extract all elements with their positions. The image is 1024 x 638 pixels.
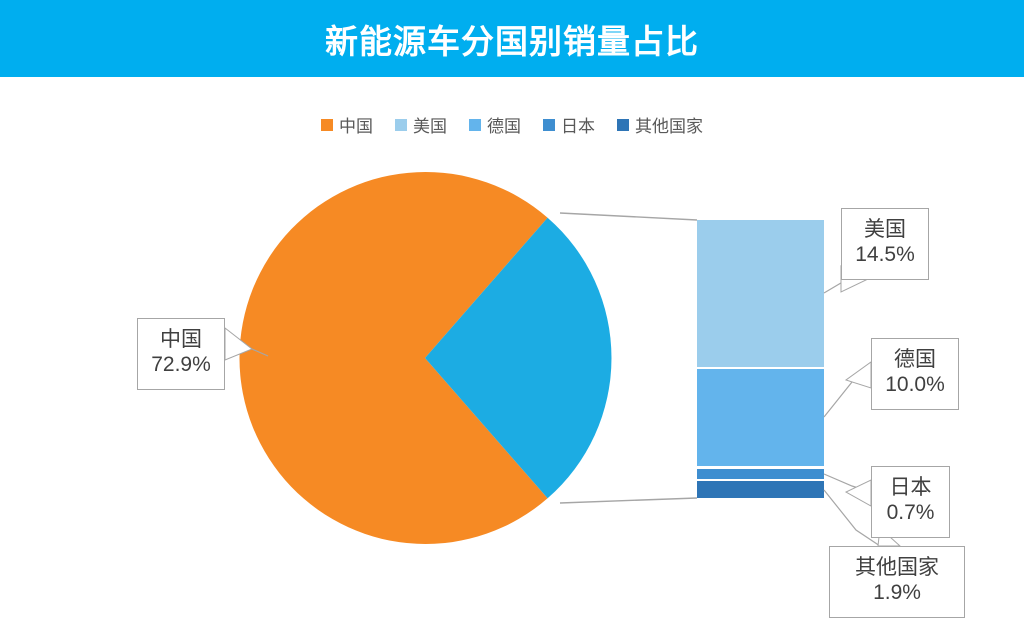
callout-china[interactable]: 中国 72.9% (137, 318, 225, 390)
callout-china-name: 中国 (160, 328, 202, 353)
connector-line-top (560, 213, 697, 220)
callout-japan-value: 0.7% (887, 501, 935, 526)
callout-germany[interactable]: 德国 10.0% (871, 338, 959, 410)
connector-line-bottom (560, 498, 697, 503)
bar-segment-germany[interactable] (697, 369, 824, 466)
callout-usa[interactable]: 美国 14.5% (841, 208, 929, 280)
pie-group (239, 172, 611, 544)
callout-usa-value: 14.5% (855, 243, 915, 268)
bar-segment-japan[interactable] (697, 469, 824, 479)
bar-segment-other[interactable] (697, 481, 824, 498)
callout-other-name: 其他国家 (855, 556, 939, 581)
bar-segment-usa[interactable] (697, 220, 824, 367)
callout-japan-name: 日本 (890, 476, 932, 501)
stacked-bar-group (697, 220, 824, 498)
callout-other[interactable]: 其他国家 1.9% (829, 546, 965, 618)
callout-tail-japan-icon (846, 480, 871, 506)
callout-japan[interactable]: 日本 0.7% (871, 466, 950, 538)
callout-china-value: 72.9% (151, 353, 211, 378)
callout-usa-name: 美国 (864, 218, 906, 243)
bar-of-pie-chart: 中国 72.9% 美国 14.5% 德国 10.0% 日本 0.7% 其他国家 … (0, 0, 1024, 638)
callout-other-value: 1.9% (873, 581, 921, 606)
callout-germany-name: 德国 (894, 348, 936, 373)
callout-germany-value: 10.0% (885, 373, 945, 398)
